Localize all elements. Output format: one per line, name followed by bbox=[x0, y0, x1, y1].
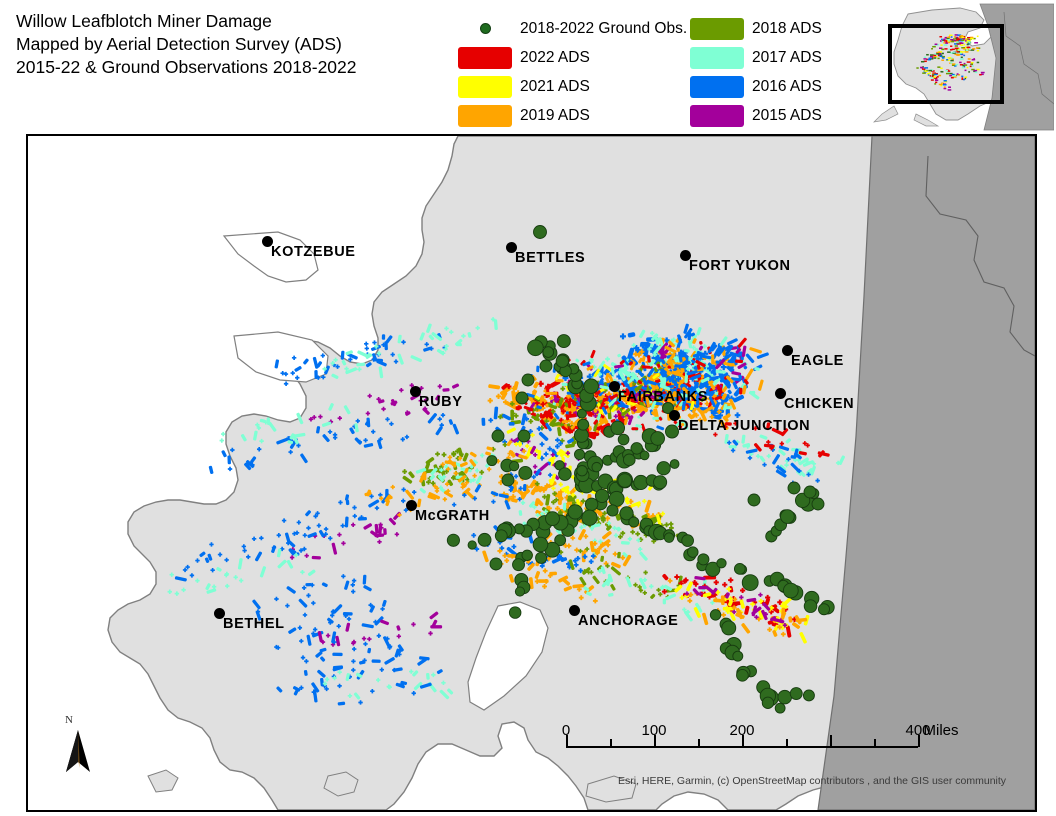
inset-locator-map bbox=[872, 2, 1054, 132]
legend-column-right: 2018 ADS 2017 ADS 2016 ADS 2015 ADS bbox=[690, 14, 850, 130]
legend-item-2017-ads: 2017 ADS bbox=[690, 43, 850, 72]
scale-bar-line bbox=[566, 746, 918, 748]
scale-bar: 0100200400Miles bbox=[566, 722, 966, 762]
north-arrow-label: N bbox=[65, 714, 73, 726]
ground-obs-point-icon bbox=[458, 18, 512, 40]
north-arrow: N bbox=[58, 714, 98, 776]
legend-item-ground-obs: 2018-2022 Ground Obs. bbox=[458, 14, 658, 43]
legend-label-2021-ads: 2021 ADS bbox=[520, 78, 590, 96]
legend-label-ground-obs: 2018-2022 Ground Obs. bbox=[520, 20, 687, 38]
legend-item-2022-ads: 2022 ADS bbox=[458, 43, 658, 72]
main-map-frame[interactable]: KOTZEBUEBETTLESFORT YUKONEAGLERUBYFAIRBA… bbox=[26, 134, 1037, 812]
legend-item-2021-ads: 2021 ADS bbox=[458, 72, 658, 101]
legend-swatch-2018 bbox=[690, 18, 744, 40]
title-line-2: Mapped by Aerial Detection Survey (ADS) bbox=[16, 33, 446, 56]
legend-item-2019-ads: 2019 ADS bbox=[458, 101, 658, 130]
legend-label-2017-ads: 2017 ADS bbox=[752, 49, 822, 67]
legend-label-2015-ads: 2015 ADS bbox=[752, 107, 822, 125]
map-attribution: Esri, HERE, Garmin, (c) OpenStreetMap co… bbox=[618, 775, 1006, 787]
legend-swatch-2016 bbox=[690, 76, 744, 98]
legend-item-2015-ads: 2015 ADS bbox=[690, 101, 850, 130]
inset-map-svg bbox=[872, 2, 1054, 132]
page-title: Willow Leafblotch Miner Damage Mapped by… bbox=[16, 10, 446, 79]
map-legend: 2018-2022 Ground Obs. 2022 ADS 2021 ADS … bbox=[458, 14, 818, 132]
legend-swatch-2017 bbox=[690, 47, 744, 69]
title-line-3: 2015-22 & Ground Observations 2018-2022 bbox=[16, 56, 446, 79]
north-arrow-icon bbox=[58, 728, 98, 776]
title-line-1: Willow Leafblotch Miner Damage bbox=[16, 10, 446, 33]
legend-label-2022-ads: 2022 ADS bbox=[520, 49, 590, 67]
legend-swatch-2015 bbox=[690, 105, 744, 127]
legend-swatch-2021 bbox=[458, 76, 512, 98]
legend-label-2019-ads: 2019 ADS bbox=[520, 107, 590, 125]
scale-units-label: Miles bbox=[923, 722, 958, 739]
legend-label-2016-ads: 2016 ADS bbox=[752, 78, 822, 96]
scale-tick bbox=[918, 735, 920, 747]
main-map-svg[interactable] bbox=[28, 136, 1035, 810]
legend-label-2018-ads: 2018 ADS bbox=[752, 20, 822, 38]
legend-swatch-2022 bbox=[458, 47, 512, 69]
legend-item-2018-ads: 2018 ADS bbox=[690, 14, 850, 43]
legend-item-2016-ads: 2016 ADS bbox=[690, 72, 850, 101]
legend-swatch-2019 bbox=[458, 105, 512, 127]
legend-column-left: 2018-2022 Ground Obs. 2022 ADS 2021 ADS … bbox=[458, 14, 658, 130]
